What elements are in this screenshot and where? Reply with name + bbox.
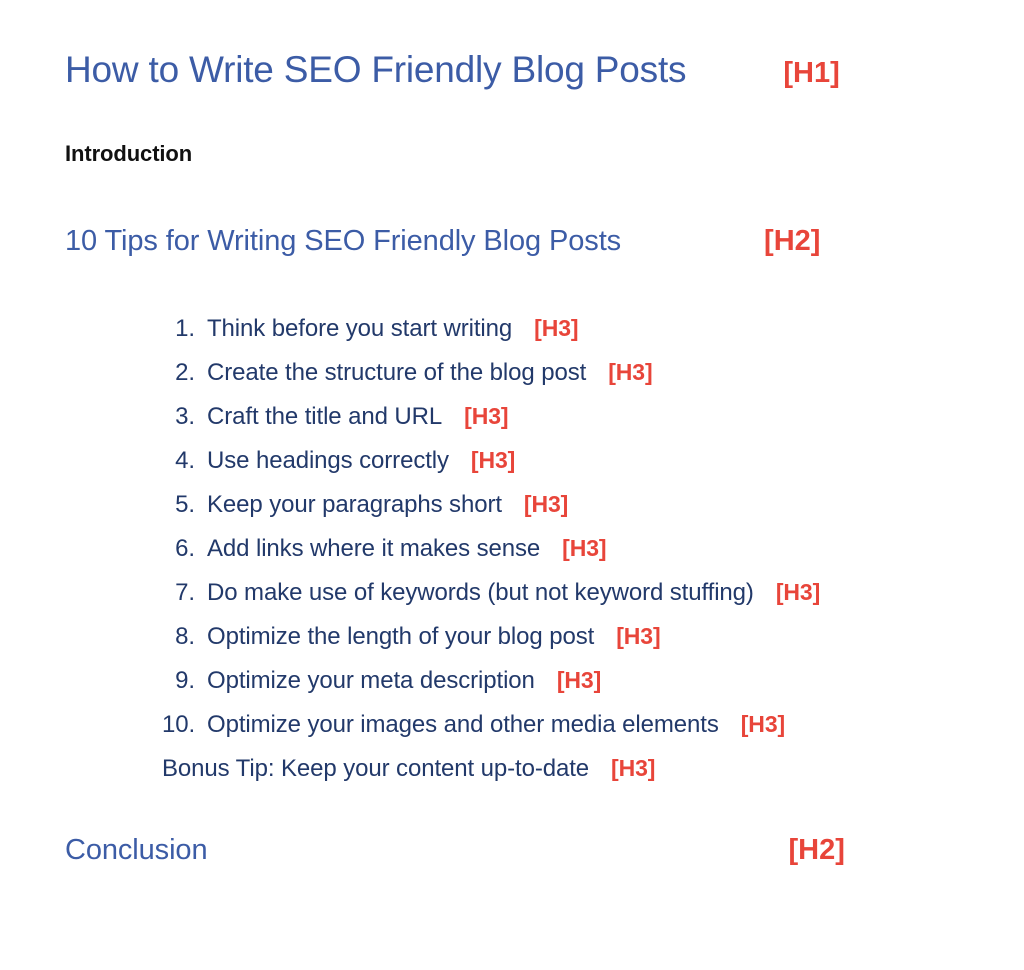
- list-item: 3. Craft the title and URL [H3]: [162, 394, 1022, 438]
- list-item-marker: 6.: [162, 527, 207, 571]
- list-item: 1. Think before you start writing [H3]: [162, 306, 1022, 350]
- list-item-marker: 8.: [162, 615, 207, 659]
- list-item-label: Think before you start writing: [207, 307, 512, 351]
- list-item-marker: 2.: [162, 351, 207, 395]
- page-title: How to Write SEO Friendly Blog Posts: [65, 48, 686, 92]
- heading-level-tag-h3: [H3]: [616, 614, 660, 658]
- list-item-bonus: Bonus Tip: Keep your content up-to-date …: [162, 746, 1022, 790]
- heading-level-tag-h1: [H1]: [783, 51, 839, 95]
- heading-level-tag-h3: [H3]: [524, 482, 568, 526]
- heading-level-tag-h2-conclusion: [H2]: [788, 831, 844, 869]
- heading-level-tag-h3: [H3]: [608, 350, 652, 394]
- list-item-marker: 4.: [162, 439, 207, 483]
- section-heading-tips: 10 Tips for Writing SEO Friendly Blog Po…: [65, 222, 621, 260]
- heading-level-tag-h3: [H3]: [562, 526, 606, 570]
- list-item-marker: 10.: [162, 703, 207, 747]
- list-item-label: Keep your paragraphs short: [207, 483, 502, 527]
- list-item: 8. Optimize the length of your blog post…: [162, 614, 1022, 658]
- list-item-marker: 1.: [162, 307, 207, 351]
- section-introduction-row: Introduction: [65, 139, 192, 169]
- list-item-label: Craft the title and URL: [207, 395, 442, 439]
- section-heading-conclusion: Conclusion: [65, 831, 207, 869]
- list-item-label: Optimize the length of your blog post: [207, 615, 594, 659]
- heading-level-tag-h3: [H3]: [776, 570, 820, 614]
- list-item-marker: 5.: [162, 483, 207, 527]
- list-item: 6. Add links where it makes sense [H3]: [162, 526, 1022, 570]
- list-item: 2. Create the structure of the blog post…: [162, 350, 1022, 394]
- list-item-label: Create the structure of the blog post: [207, 351, 586, 395]
- tips-list: 1. Think before you start writing [H3] 2…: [162, 306, 1022, 790]
- heading-level-tag-h3: [H3]: [464, 394, 508, 438]
- list-item-marker: 7.: [162, 571, 207, 615]
- heading-level-tag-h3: [H3]: [741, 702, 785, 746]
- list-item-marker: 3.: [162, 395, 207, 439]
- list-item-label: Optimize your images and other media ele…: [207, 703, 719, 747]
- list-item-label: Optimize your meta description: [207, 659, 535, 703]
- document-canvas: How to Write SEO Friendly Blog Posts [H1…: [0, 0, 1024, 970]
- heading-level-tag-h3: [H3]: [471, 438, 515, 482]
- heading-level-tag-h2-tips: [H2]: [764, 222, 820, 260]
- heading-h1-row: How to Write SEO Friendly Blog Posts [H1…: [65, 48, 965, 95]
- list-item-label: Bonus Tip: Keep your content up-to-date: [162, 747, 589, 791]
- list-item-marker: 9.: [162, 659, 207, 703]
- list-item: 7. Do make use of keywords (but not keyw…: [162, 570, 1022, 614]
- heading-level-tag-h3: [H3]: [534, 306, 578, 350]
- heading-h2-conclusion-row: Conclusion [H2]: [65, 831, 965, 869]
- list-item: 4. Use headings correctly [H3]: [162, 438, 1022, 482]
- heading-h2-tips-row: 10 Tips for Writing SEO Friendly Blog Po…: [65, 222, 965, 260]
- list-item-label: Use headings correctly: [207, 439, 449, 483]
- list-item: 9. Optimize your meta description [H3]: [162, 658, 1022, 702]
- list-item-label: Add links where it makes sense: [207, 527, 540, 571]
- section-label-introduction: Introduction: [65, 139, 192, 169]
- heading-level-tag-h3: [H3]: [611, 746, 655, 790]
- list-item: 10. Optimize your images and other media…: [162, 702, 1022, 746]
- list-item-label: Do make use of keywords (but not keyword…: [207, 571, 754, 615]
- heading-level-tag-h3: [H3]: [557, 658, 601, 702]
- list-item: 5. Keep your paragraphs short [H3]: [162, 482, 1022, 526]
